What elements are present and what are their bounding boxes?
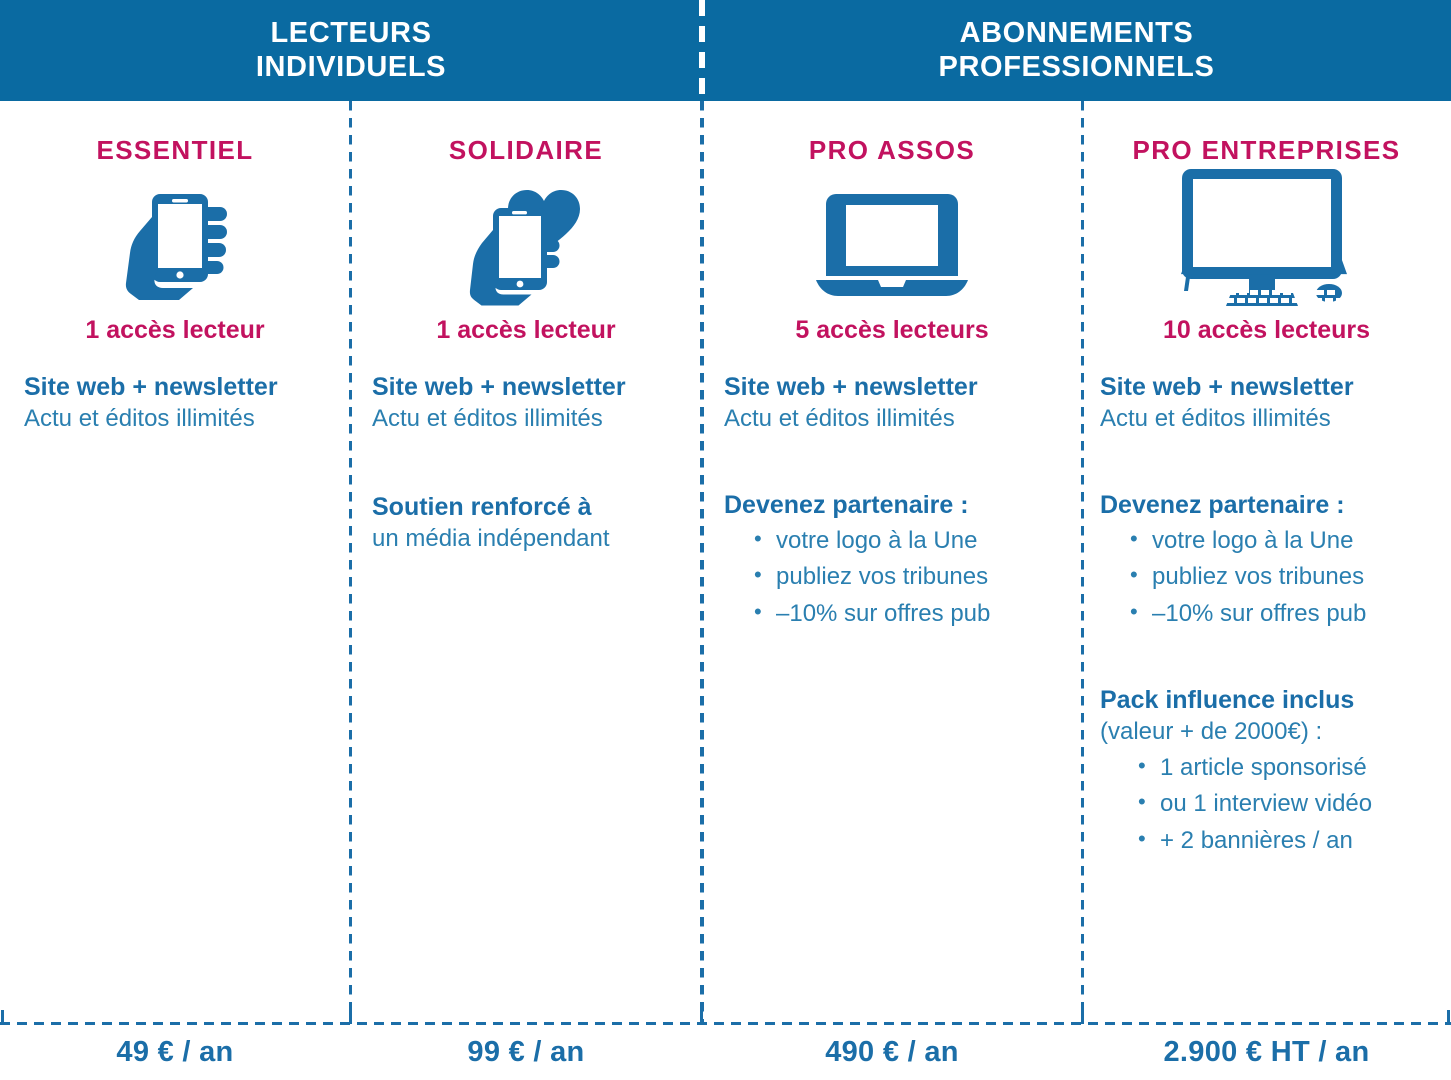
list-item: ou 1 interview vidéo	[1138, 786, 1441, 822]
feature-subtext: un média indépendant	[372, 523, 692, 555]
plan-columns: ESSENTIEL 1 accès lecteur	[0, 101, 1451, 1022]
feature-block: Pack influence inclus (valeur + de 2000€…	[1100, 684, 1441, 859]
feature-bullet-list: 1 article sponsorisé ou 1 interview vidé…	[1100, 750, 1441, 859]
feature-block: Devenez partenaire : votre logo à la Une…	[1100, 489, 1441, 632]
list-item: –10% sur offres pub	[754, 596, 1072, 632]
feature-subtext: Actu et éditos illimités	[24, 403, 340, 435]
plan-column-essentiel[interactable]: ESSENTIEL 1 accès lecteur	[0, 101, 350, 1022]
hand-holding-smartphone-heart-icon	[360, 166, 692, 316]
header-group-professionnels: ABONNEMENTS PROFESSIONNELS	[702, 0, 1451, 101]
divider-tick	[700, 1010, 703, 1024]
feature-bullet-list: votre logo à la Une publiez vos tribunes…	[724, 523, 1072, 632]
divider-tick	[349, 1010, 352, 1024]
header-group-title: ABONNEMENTS PROFESSIONNELS	[939, 17, 1215, 84]
plan-title: PRO ASSOS	[712, 135, 1072, 166]
feature-subtext: Actu et éditos illimités	[724, 403, 1072, 435]
list-item: publiez vos tribunes	[754, 559, 1072, 595]
hand-holding-smartphone-icon	[10, 166, 340, 316]
plan-features: Site web + newsletter Actu et éditos ill…	[712, 371, 1072, 632]
feature-heading: Site web + newsletter	[724, 371, 1072, 403]
feature-block: Devenez partenaire : votre logo à la Une…	[724, 489, 1072, 632]
plan-features: Site web + newsletter Actu et éditos ill…	[360, 371, 692, 554]
list-item: votre logo à la Une	[1130, 523, 1441, 559]
feature-heading: Devenez partenaire :	[1100, 489, 1441, 521]
plan-access: 10 accès lecteurs	[1092, 316, 1441, 345]
feature-block: Site web + newsletter Actu et éditos ill…	[372, 371, 692, 435]
plan-title: PRO ENTREPRISES	[1092, 135, 1441, 166]
feature-heading: Soutien renforcé à	[372, 491, 692, 523]
plan-features: Site web + newsletter Actu et éditos ill…	[10, 371, 340, 435]
feature-heading: Site web + newsletter	[1100, 371, 1441, 403]
header-group-individuels: LECTEURS INDIVIDUELS	[0, 0, 702, 101]
price-label: 2.900 € HT / an	[1164, 1036, 1370, 1069]
list-item: publiez vos tribunes	[1130, 559, 1441, 595]
plan-title: SOLIDAIRE	[360, 135, 692, 166]
price-cell-pro-assos: 490 € / an	[702, 1025, 1082, 1080]
price-cell-solidaire: 99 € / an	[350, 1025, 702, 1080]
divider-tick	[1, 1010, 4, 1024]
feature-subtext: Actu et éditos illimités	[372, 403, 692, 435]
feature-bullet-list: votre logo à la Une publiez vos tribunes…	[1100, 523, 1441, 632]
list-item: + 2 bannières / an	[1138, 823, 1441, 859]
feature-subtext: Actu et éditos illimités	[1100, 403, 1441, 435]
price-cell-essentiel: 49 € / an	[0, 1025, 350, 1080]
plan-access: 1 accès lecteur	[10, 316, 340, 345]
feature-heading: Pack influence inclus	[1100, 684, 1441, 716]
feature-heading: Devenez partenaire :	[724, 489, 1072, 521]
list-item: –10% sur offres pub	[1130, 596, 1441, 632]
header-group-title: LECTEURS INDIVIDUELS	[256, 17, 446, 84]
divider-tick	[1447, 1010, 1450, 1024]
pricing-table: LECTEURS INDIVIDUELS ABONNEMENTS PROFESS…	[0, 0, 1451, 1080]
plan-access: 1 accès lecteur	[360, 316, 692, 345]
price-cell-pro-entreprises: 2.900 € HT / an	[1082, 1025, 1451, 1080]
feature-heading: Site web + newsletter	[24, 371, 340, 403]
plan-column-pro-assos[interactable]: PRO ASSOS 5 accès lecteurs Site web + ne…	[702, 101, 1082, 1022]
header-bar: LECTEURS INDIVIDUELS ABONNEMENTS PROFESS…	[0, 0, 1451, 101]
divider-tick	[1081, 1010, 1084, 1024]
plan-column-pro-entreprises[interactable]: PRO ENTREPRISES	[1082, 101, 1451, 1022]
list-item: 1 article sponsorisé	[1138, 750, 1441, 786]
feature-block: Site web + newsletter Actu et éditos ill…	[724, 371, 1072, 435]
feature-subtext: (valeur + de 2000€) :	[1100, 716, 1441, 748]
price-label: 490 € / an	[825, 1036, 959, 1069]
laptop-icon	[712, 166, 1072, 316]
feature-heading: Site web + newsletter	[372, 371, 692, 403]
feature-block: Soutien renforcé à un média indépendant	[372, 491, 692, 555]
header-divider	[699, 0, 705, 101]
plan-access: 5 accès lecteurs	[712, 316, 1072, 345]
feature-block: Site web + newsletter Actu et éditos ill…	[24, 371, 340, 435]
desktop-computer-icon	[1092, 166, 1441, 316]
plan-features: Site web + newsletter Actu et éditos ill…	[1092, 371, 1441, 859]
list-item: votre logo à la Une	[754, 523, 1072, 559]
plan-title: ESSENTIEL	[10, 135, 340, 166]
price-row: 49 € / an 99 € / an 490 € / an 2.900 € H…	[0, 1025, 1451, 1080]
plan-column-solidaire[interactable]: SOLIDAIRE 1 accès lecteur	[350, 101, 702, 1022]
price-label: 49 € / an	[116, 1036, 233, 1069]
feature-block: Site web + newsletter Actu et éditos ill…	[1100, 371, 1441, 435]
price-label: 99 € / an	[467, 1036, 584, 1069]
